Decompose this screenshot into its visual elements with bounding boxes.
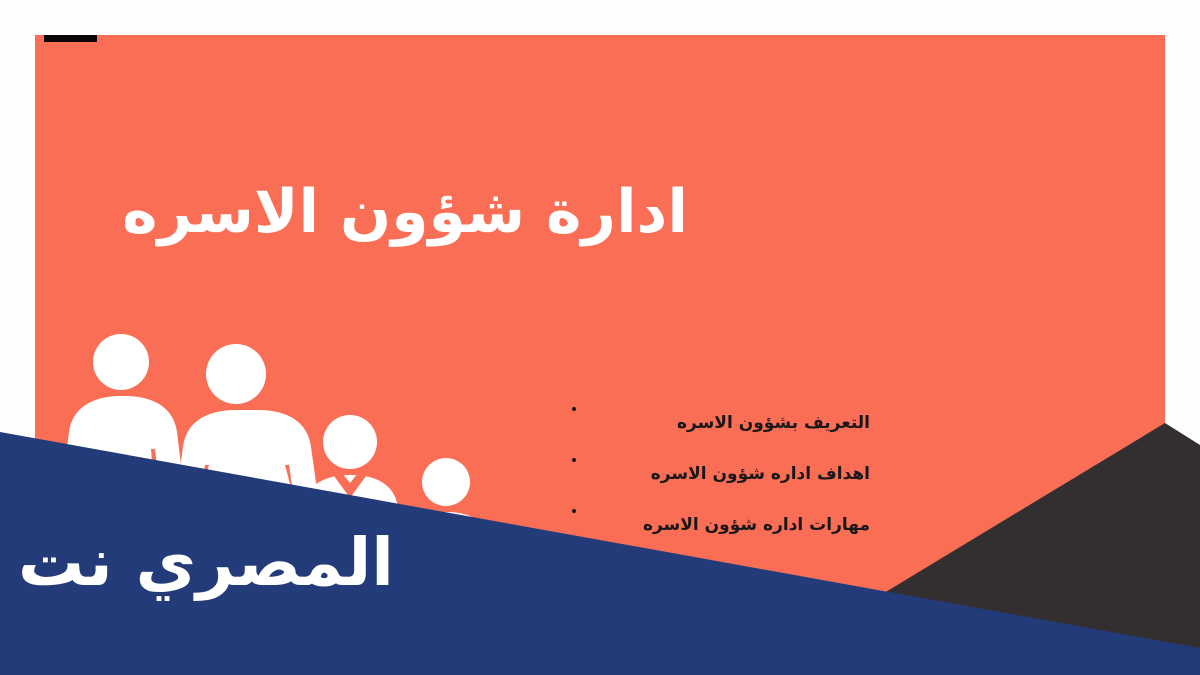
bullet-item-label: التعريف بشؤون الاسره: [677, 413, 870, 433]
bullet-item-label: اهداف اداره شؤون الاسره: [651, 464, 870, 484]
bullet-item-label: مهارات اداره شؤون الاسره: [643, 515, 870, 535]
bullet-item: اهداف اداره شؤون الاسره: [570, 466, 870, 483]
bullet-dot-icon: [572, 509, 576, 513]
slide-title: ادارة شؤون الاسره: [60, 178, 750, 247]
watermark-label: المصري نت: [18, 530, 394, 596]
bullet-dot-icon: [572, 458, 576, 462]
presentation-slide: ادارة شؤون الاسره التعريف بشؤون الاسره ا…: [0, 0, 1200, 675]
bullet-dot-icon: [572, 407, 576, 411]
bullet-item: التعريف بشؤون الاسره: [570, 415, 870, 432]
agenda-bullet-list: التعريف بشؤون الاسره اهداف اداره شؤون ال…: [570, 415, 870, 568]
bullet-item: مهارات اداره شؤون الاسره: [570, 517, 870, 534]
black-accent-bar: [44, 35, 97, 42]
